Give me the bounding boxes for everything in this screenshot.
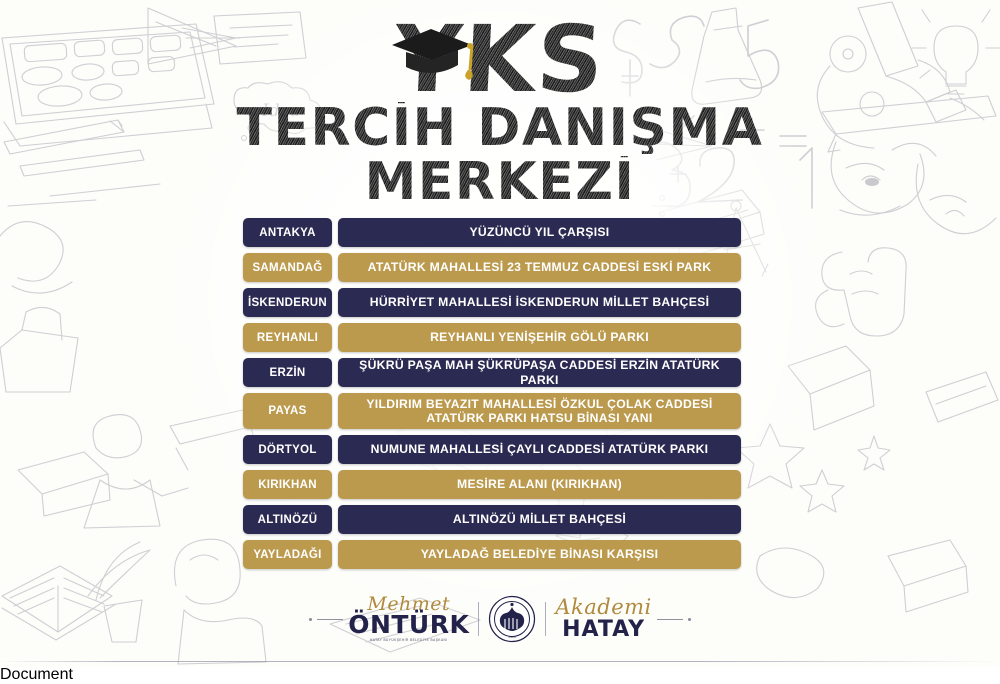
poster-canvas: Idea [0, 0, 1000, 666]
footer-divider-1 [478, 602, 479, 636]
onturk-subtitle: HATAY BÜYÜKŞEHİR BELEDİYE BAŞKANI [370, 639, 448, 643]
table-row[interactable]: ERZİN ŞÜKRÜ PAŞA MAH ŞÜKRÜPAŞA CADDESİ E… [243, 358, 741, 387]
district-label: REYHANLI [243, 323, 332, 352]
table-row[interactable]: REYHANLI REYHANLI YENİŞEHİR GÖLÜ PARKI [243, 323, 741, 352]
doodle-stars [736, 424, 890, 512]
doodle-box-right [788, 346, 874, 430]
brand-mehmet-onturk: Mehmet ÖNTÜRK HATAY BÜYÜKŞEHİR BELEDİYE … [348, 595, 469, 642]
footer-dot-left [309, 618, 312, 621]
table-row[interactable]: ANTAKYA YÜZÜNCÜ YIL ÇARŞISI [243, 218, 741, 247]
venue-table: ANTAKYA YÜZÜNCÜ YIL ÇARŞISI SAMANDAĞ ATA… [243, 218, 741, 575]
doodle-figure-left [84, 415, 188, 528]
table-row[interactable]: KIRIKHAN MESİRE ALANI (KIRIKHAN) [243, 470, 741, 499]
table-row[interactable]: ALTINÖZÜ ALTINÖZÜ MİLLET BAHÇESİ [243, 505, 741, 534]
district-label: KIRIKHAN [243, 470, 332, 499]
footer-dot-right [688, 618, 691, 621]
akademi-city-name: HATAY [562, 619, 645, 641]
district-label: DÖRTYOL [243, 435, 332, 464]
venue-value: ATATÜRK MAHALLESİ 23 TEMMUZ CADDESİ ESKİ… [338, 253, 741, 282]
footer-divider-2 [545, 602, 546, 636]
akademi-script-name: Akademi [555, 597, 651, 618]
page-title-line3: MERKEZİ [0, 156, 1000, 208]
district-label: ANTAKYA [243, 218, 332, 247]
district-label: ERZİN [243, 358, 332, 387]
hatay-municipality-seal-icon: 1929 [488, 595, 536, 643]
venue-value: NUMUNE MAHALLESİ ÇAYLI CADDESİ ATATÜRK P… [338, 435, 741, 464]
doodle-book-right [926, 372, 998, 422]
district-label: SAMANDAĞ [243, 253, 332, 282]
doodle-figure-mid [0, 222, 72, 294]
table-row[interactable]: PAYAS YILDIRIM BEYAZIT MAHALLESİ ÖZKUL Ç… [243, 393, 741, 429]
venue-value: REYHANLI YENİŞEHİR GÖLÜ PARKI [338, 323, 741, 352]
table-row[interactable]: SAMANDAĞ ATATÜRK MAHALLESİ 23 TEMMUZ CAD… [243, 253, 741, 282]
footer-separator-line [0, 661, 1000, 662]
page-title-yks: YKS [0, 14, 1000, 106]
graduation-cap-icon [389, 26, 475, 80]
venue-value: HÜRRİYET MAHALLESİ İSKENDERUN MİLLET BAH… [338, 288, 741, 317]
venue-value: ALTINÖZÜ MİLLET BAHÇESİ [338, 505, 741, 534]
district-label: İSKENDERUN [243, 288, 332, 317]
doodle-laptop [18, 452, 110, 516]
footer-dash-left [317, 619, 343, 620]
venue-value: YÜZÜNCÜ YIL ÇARŞISI [338, 218, 741, 247]
district-label: PAYAS [243, 393, 332, 429]
brand-akademi-hatay: Akademi HATAY [555, 597, 651, 641]
district-label: YAYLADAĞI [243, 540, 332, 569]
venue-value: YAYLADAĞ BELEDİYE BİNASI KARŞISI [338, 540, 741, 569]
table-row[interactable]: DÖRTYOL NUMUNE MAHALLESİ ÇAYLI CADDESİ A… [243, 435, 741, 464]
table-row[interactable]: İSKENDERUN HÜRRİYET MAHALLESİ İSKENDERUN… [243, 288, 741, 317]
doodle-bag [0, 307, 78, 392]
venue-value: MESİRE ALANI (KIRIKHAN) [338, 470, 741, 499]
doodle-hand [816, 248, 907, 336]
footer-dash-right [657, 619, 683, 620]
table-row[interactable]: YAYLADAĞI YAYLADAĞ BELEDİYE BİNASI KARŞI… [243, 540, 741, 569]
venue-value: ŞÜKRÜ PAŞA MAH ŞÜKRÜPAŞA CADDESİ ERZİN A… [338, 358, 741, 387]
onturk-surname: ÖNTÜRK [348, 612, 469, 637]
venue-value: YILDIRIM BEYAZIT MAHALLESİ ÖZKUL ÇOLAK C… [338, 393, 741, 429]
footer-logo-bar: Mehmet ÖNTÜRK HATAY BÜYÜKŞEHİR BELEDİYE … [0, 588, 1000, 650]
district-label: ALTINÖZÜ [243, 505, 332, 534]
title-block: YKS TERCİH DANIŞMA MERKEZİ [0, 14, 1000, 208]
svg-text:1929: 1929 [509, 635, 517, 639]
